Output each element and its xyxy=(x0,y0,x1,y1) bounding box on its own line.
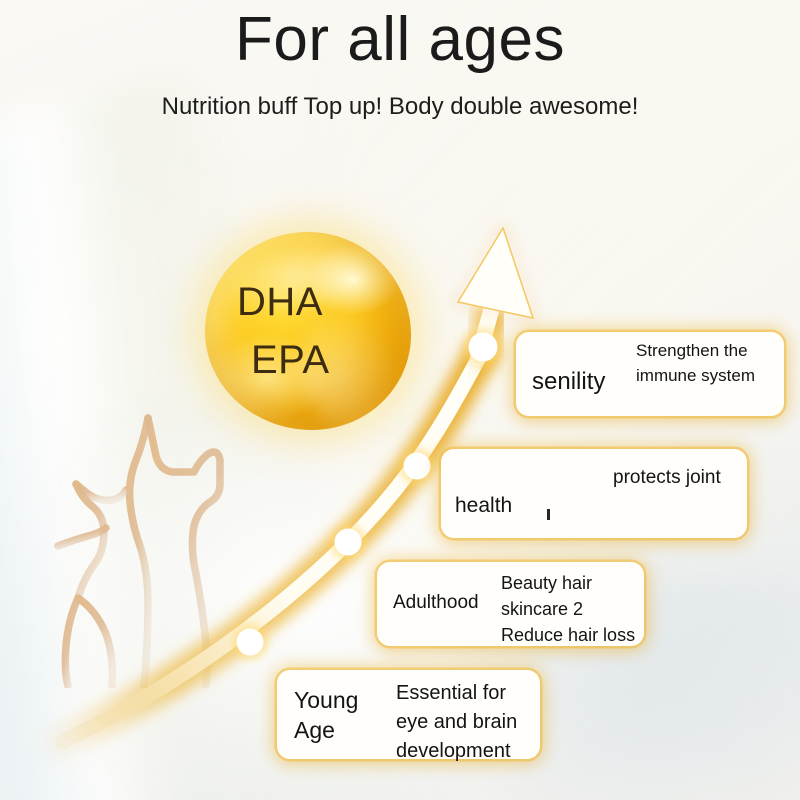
sphere-label: DHA EPA xyxy=(205,232,411,430)
dog-and-cat-outline-icon xyxy=(48,398,278,688)
stage-age-senility: senility xyxy=(532,366,605,398)
page-title: For all ages xyxy=(0,6,800,74)
poster-canvas: DHA EPA For all ages Nutrition buff Top … xyxy=(0,0,800,800)
sphere-label-epa: EPA xyxy=(237,331,330,389)
stage-card-adulthood[interactable]: Beauty hair skincare 2 Reduce hair loss … xyxy=(377,562,644,646)
stage-card-senility[interactable]: Strengthen the immune system senility xyxy=(516,332,784,416)
stage-benefit-joint-health: protects joint xyxy=(613,464,721,492)
upward-growth-arrow-icon xyxy=(458,228,533,318)
sphere-label-dha: DHA xyxy=(237,273,323,331)
page-subtitle: Nutrition buff Top up! Body double aweso… xyxy=(0,93,800,121)
stage-card-joint-health[interactable]: protects joint health xyxy=(441,449,747,538)
stage-age-adulthood: Adulthood xyxy=(393,590,479,615)
stage-benefit-adulthood: Beauty hair skincare 2 Reduce hair loss xyxy=(501,570,635,648)
stray-tick-mark xyxy=(547,509,550,520)
stage-age-young-age: Young Age xyxy=(294,685,358,746)
stage-age-joint-health: health xyxy=(455,492,512,520)
stage-benefit-senility: Strengthen the immune system xyxy=(636,339,755,388)
stage-card-young-age[interactable]: Essential for eye and brain development … xyxy=(277,670,540,759)
stage-benefit-young-age: Essential for eye and brain development xyxy=(396,679,517,766)
